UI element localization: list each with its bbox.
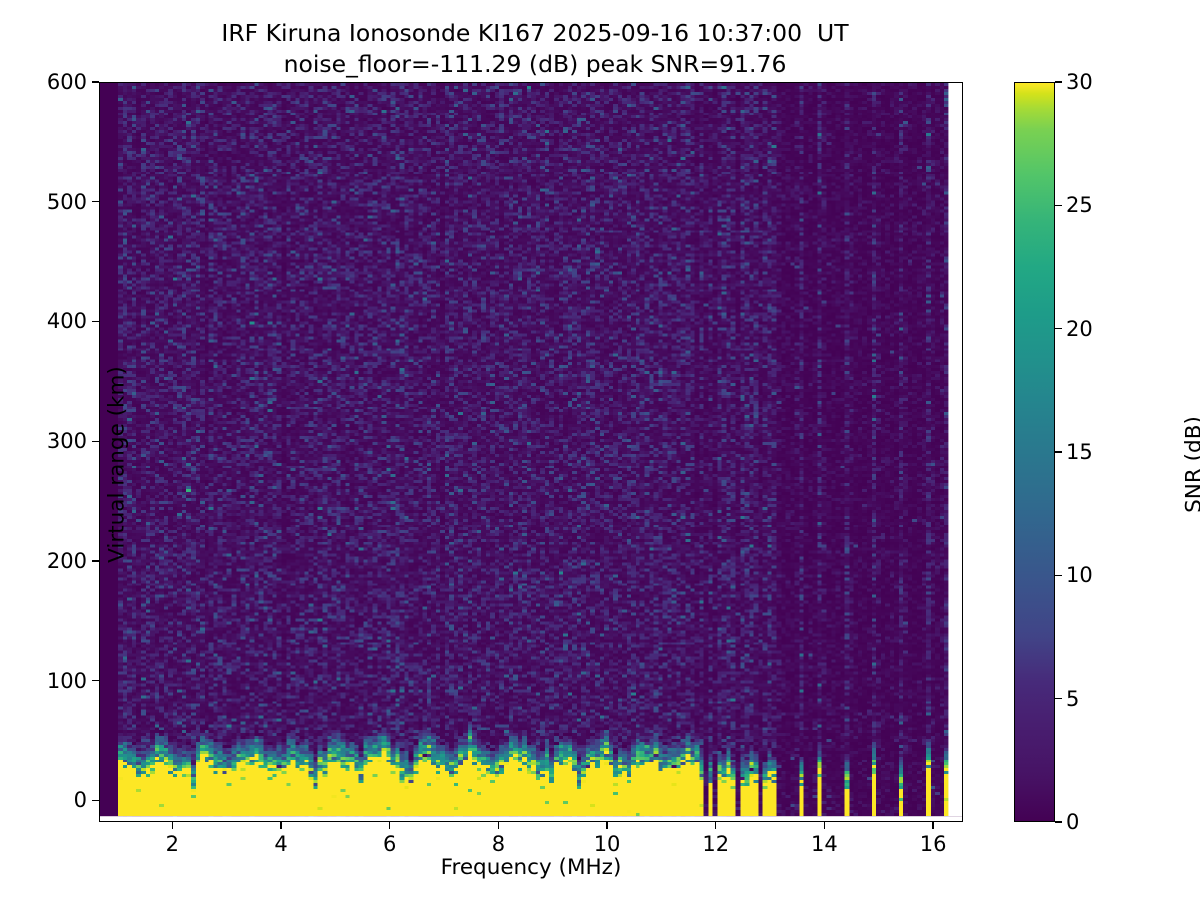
x-tick-mark: [389, 822, 390, 829]
x-tick-label: 6: [383, 832, 396, 856]
y-tick-mark: [92, 201, 99, 202]
colorbar-tick-label: 5: [1066, 687, 1079, 711]
x-tick-label: 2: [166, 832, 179, 856]
x-tick-mark: [824, 822, 825, 829]
x-tick-label: 12: [702, 832, 729, 856]
y-tick-mark: [92, 321, 99, 322]
y-tick-label: 600: [47, 70, 87, 94]
colorbar-tick-label: 10: [1066, 563, 1093, 587]
colorbar-tick-label: 0: [1066, 810, 1079, 834]
y-tick-label: 0: [74, 788, 87, 812]
x-tick-mark: [932, 822, 933, 829]
x-tick-label: 8: [492, 832, 505, 856]
y-tick-label: 400: [47, 309, 87, 333]
y-tick-mark: [92, 680, 99, 681]
y-tick-label: 300: [47, 429, 87, 453]
x-tick-label: 10: [594, 832, 621, 856]
x-tick-mark: [280, 822, 281, 829]
colorbar-tick-mark: [1055, 821, 1062, 822]
y-tick-mark: [92, 81, 99, 82]
x-tick-mark: [172, 822, 173, 829]
colorbar-tick-label: 15: [1066, 440, 1093, 464]
colorbar-tick-label: 30: [1066, 70, 1093, 94]
x-tick-mark: [498, 822, 499, 829]
x-tick-label: 16: [920, 832, 947, 856]
chart-title: IRF Kiruna Ionosonde KI167 2025-09-16 10…: [0, 18, 1070, 79]
x-axis-label: Frequency (MHz): [99, 855, 963, 880]
colorbar-label: SNR (dB): [1182, 95, 1200, 835]
x-tick-label: 4: [274, 832, 287, 856]
colorbar-tick-mark: [1055, 698, 1062, 699]
y-tick-label: 200: [47, 549, 87, 573]
colorbar-tick-label: 20: [1066, 317, 1093, 341]
plot-axes: [99, 82, 963, 822]
colorbar: [1014, 82, 1055, 822]
y-tick-mark: [92, 441, 99, 442]
title-line-2: noise_floor=-111.29 (dB) peak SNR=91.76: [0, 49, 1070, 80]
ionogram-heatmap: [100, 83, 962, 821]
colorbar-tick-mark: [1055, 328, 1062, 329]
y-tick-mark: [92, 800, 99, 801]
x-tick-mark: [715, 822, 716, 829]
y-axis-label: Virtual range (km): [105, 95, 130, 835]
ionogram-figure: IRF Kiruna Ionosonde KI167 2025-09-16 10…: [0, 0, 1200, 900]
y-tick-label: 500: [47, 190, 87, 214]
y-tick-label: 100: [47, 669, 87, 693]
colorbar-tick-mark: [1055, 451, 1062, 452]
colorbar-tick-mark: [1055, 205, 1062, 206]
colorbar-tick-mark: [1055, 81, 1062, 82]
title-line-1: IRF Kiruna Ionosonde KI167 2025-09-16 10…: [0, 18, 1070, 49]
y-tick-mark: [92, 560, 99, 561]
colorbar-tick-mark: [1055, 575, 1062, 576]
x-tick-mark: [606, 822, 607, 829]
x-tick-label: 14: [811, 832, 838, 856]
colorbar-tick-label: 25: [1066, 193, 1093, 217]
